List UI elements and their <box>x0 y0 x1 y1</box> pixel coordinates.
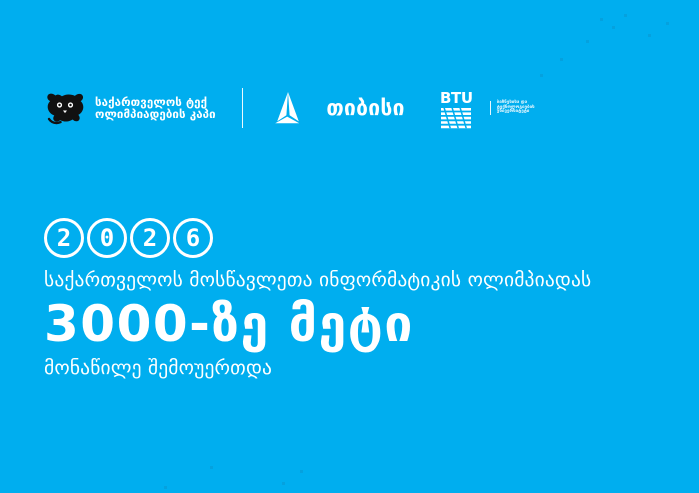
logo-tbc[interactable]: თიბისი <box>269 90 404 126</box>
logo-divider <box>242 88 244 128</box>
year-digit: 2 <box>44 218 84 258</box>
logo-btu[interactable]: BTU ბიზნესისა და ტექნოლოგიების <box>439 86 535 130</box>
logo-gov-text: საქართველოს ტექ ოლიმპიადების კაპი <box>95 96 216 121</box>
logo-btu-line3: უნივერსიტეტი <box>497 110 535 115</box>
year-digit: 2 <box>130 218 170 258</box>
poster-subtitle: საქართველოს მოსწავლეთა ინფორმატიკის ოლიმ… <box>44 268 664 292</box>
year-badge-2026: 2 0 2 6 <box>44 218 664 258</box>
poster-headline: 3000-ზე მეტი <box>44 296 664 352</box>
btu-logo-icon: BTU <box>439 86 483 130</box>
year-digit: 0 <box>87 218 127 258</box>
poster-tagline: მონაწილე შემოუერთდა <box>44 356 664 380</box>
sponsor-logo-bar: საქართველოს ტექ ოლიმპიადების კაპი თიბისი… <box>46 80 659 136</box>
poster-copy: 2 0 2 6 საქართველოს მოსწავლეთა ინფორმატი… <box>44 218 664 381</box>
logo-gov-tech-olympiad[interactable]: საქართველოს ტექ ოლიმპიადების კაპი <box>46 89 216 127</box>
logo-gov-line2: ოლიმპიადების კაპი <box>95 108 216 120</box>
logo-tbc-label: თიბისი <box>326 96 404 120</box>
logo-btu-subtext: ბიზნესისა და ტექნოლოგიების უნივერსიტეტი <box>490 101 535 116</box>
fox-silhouette-icon <box>46 89 86 127</box>
svg-text:BTU: BTU <box>440 89 473 107</box>
year-digit: 6 <box>173 218 213 258</box>
tbc-triangle-icon <box>269 90 307 126</box>
promo-poster: საქართველოს ტექ ოლიმპიადების კაპი თიბისი… <box>0 0 699 493</box>
